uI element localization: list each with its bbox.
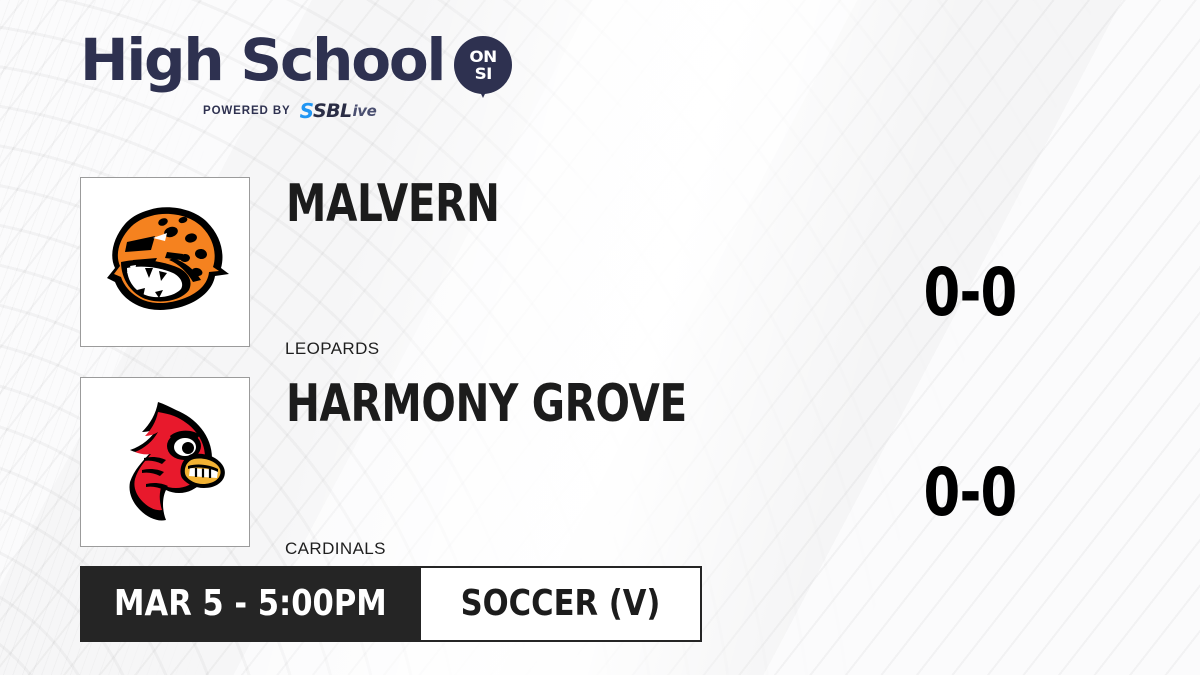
game-datetime-label: MAR 5 - 5:00PM [114, 586, 387, 622]
pin-label-on: ON [470, 49, 497, 65]
game-sport-label: SOCCER (V) [461, 586, 661, 622]
away-team-mascot: LEOPARDS [285, 339, 380, 359]
brand-header: High School ON SI POWERED BY S SBL ive [80, 34, 512, 121]
sblive-wordmark-sbl: SBL [313, 102, 351, 121]
powered-by-row: POWERED BY S SBL ive [203, 101, 512, 121]
leopard-head-icon [97, 202, 233, 322]
powered-by-label: POWERED BY [203, 105, 291, 117]
brand-title-row: High School ON SI [80, 34, 512, 94]
home-team-logo-box [80, 377, 250, 547]
game-sport-badge: SOCCER (V) [421, 566, 702, 642]
pin-label-si: SI [475, 66, 492, 82]
away-team-name: MALVERN [286, 178, 500, 230]
pin-label-group: ON SI [454, 36, 512, 94]
page-title: High School [80, 34, 444, 87]
away-team-logo-box [80, 177, 250, 347]
game-datetime-badge: MAR 5 - 5:00PM [80, 566, 421, 642]
home-team-name: HARMONY GROVE [286, 378, 687, 430]
sblive-mark-icon: S [300, 101, 313, 121]
matchup-graphic: High School ON SI POWERED BY S SBL ive [0, 0, 1200, 675]
away-team-record: 0-0 [914, 260, 1026, 326]
cardinal-head-icon [100, 398, 230, 526]
home-team-mascot: CARDINALS [285, 539, 386, 559]
onsi-pin-icon: ON SI [454, 36, 512, 94]
game-info-bar: MAR 5 - 5:00PM SOCCER (V) [80, 566, 702, 642]
home-team-record: 0-0 [914, 460, 1026, 526]
sblive-logo: S SBL ive [300, 101, 377, 121]
sblive-wordmark-ive: ive [352, 104, 376, 119]
